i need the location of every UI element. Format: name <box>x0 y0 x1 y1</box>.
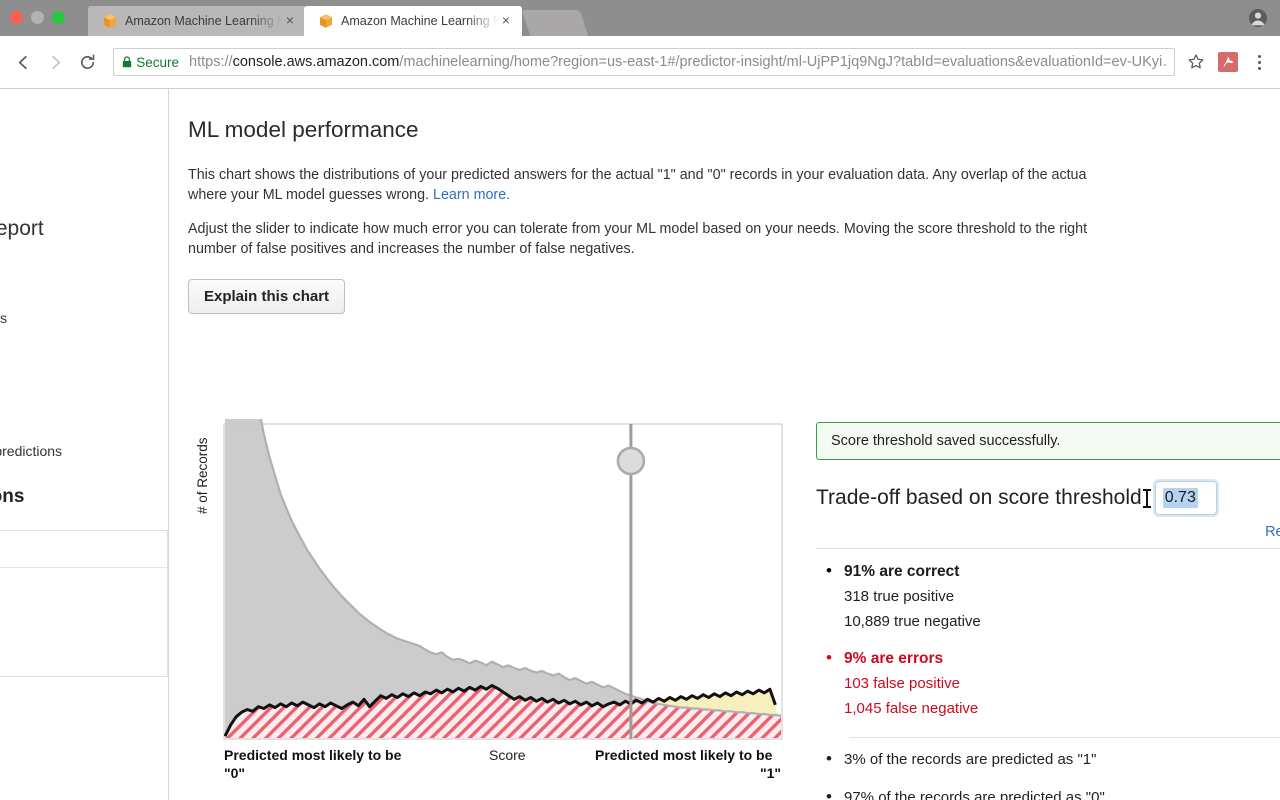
page-title: ML model performance <box>188 117 1280 143</box>
chart-xlabel-right-line2: "1" <box>595 764 781 782</box>
divider-bottom <box>849 737 1280 738</box>
score-threshold-value: 0.73 <box>1163 488 1198 508</box>
threshold-slider-handle[interactable] <box>618 448 644 474</box>
stat-true-negative: 10,889 true negative <box>844 609 1280 634</box>
aws-cube-icon <box>318 13 334 29</box>
secure-label: Secure <box>136 55 179 70</box>
title-bar: Amazon Machine Learning Ma × Amazon Mach… <box>0 0 1280 36</box>
accuracy-stats-list: 91% are correct 318 true positive 10,889… <box>816 563 1280 721</box>
sidebar-evaluation-box: …uation: ML mode… …mmary …rts (0) …lore … <box>0 530 168 677</box>
chart-xlabel-right: Predicted most likely to be "1" <box>595 746 781 782</box>
slider-paragraph-line1: Adjust the slider to indicate how much e… <box>188 219 1280 239</box>
performance-chart[interactable] <box>188 419 784 749</box>
account-circle-icon[interactable] <box>1248 8 1268 28</box>
minimize-window-button[interactable] <box>31 11 44 24</box>
sidebar-item-summary-sub[interactable]: …mmary <box>0 568 167 604</box>
intro-paragraph-line2: where your ML model guesses wrong. Learn… <box>188 185 1280 205</box>
tab-close-icon-2[interactable]: × <box>498 13 514 29</box>
chart-xlabel-left-line2: "0" <box>224 765 245 781</box>
success-alert: Score threshold saved successfully. <box>816 422 1280 460</box>
divider-top <box>816 548 1280 549</box>
tab-title-1: Amazon Machine Learning Ma <box>125 14 282 28</box>
secure-badge: Secure <box>122 55 179 70</box>
reload-icon[interactable] <box>74 48 102 76</box>
address-bar[interactable]: Secure https://console.aws.amazon.com/ma… <box>113 48 1174 76</box>
stat-false-negative: 1,045 false negative <box>844 696 1280 721</box>
stat-correct: 91% are correct 318 true positive 10,889… <box>816 563 1280 634</box>
sidebar-item-explore-performance[interactable]: …lore performance <box>0 640 167 676</box>
intro-paragraph-line1: This chart shows the distributions of yo… <box>188 165 1280 185</box>
predicted-as-1: 3% of the records are predicted as "1" <box>816 751 1280 768</box>
chart-xlabel-center: Score <box>489 746 526 764</box>
maximize-window-button[interactable] <box>52 11 65 24</box>
stat-correct-headline: 91% are correct <box>844 563 1280 581</box>
browser-window: Amazon Machine Learning Ma × Amazon Mach… <box>0 0 1280 800</box>
url-host: console.aws.amazon.com <box>233 54 400 70</box>
chart-xlabel-left: Predicted most likely to be "0" <box>224 746 424 782</box>
aws-cube-icon <box>102 13 118 29</box>
url-text: https://console.aws.amazon.com/machinele… <box>189 54 1168 70</box>
browser-menu-icon[interactable] <box>1248 50 1270 74</box>
sidebar-title: …del report <box>0 217 44 241</box>
browser-toolbar: Secure https://console.aws.amazon.com/ma… <box>0 36 1280 89</box>
score-threshold-input[interactable]: 0.73 <box>1155 481 1217 515</box>
sidebar-item-alerts[interactable]: …rts (0) <box>0 604 167 640</box>
chart-xlabel-right-line1: Predicted most likely to be <box>595 747 772 763</box>
pdf-extension-icon[interactable] <box>1218 52 1238 72</box>
chart-xlabel-left-line1: Predicted most likely to be <box>224 747 401 763</box>
tab-title-2: Amazon Machine Learning Ma <box>341 14 498 28</box>
tradeoff-header-row: Trade-off based on score threshold 0.73 <box>816 481 1280 515</box>
lock-icon <box>122 56 132 68</box>
sidebar-item-settings[interactable]: …s <box>0 310 7 326</box>
bookmark-star-icon[interactable] <box>1185 50 1209 74</box>
page-content: …del report …ry …s …ing …time prediction… <box>0 89 1280 800</box>
slider-paragraph-line2: number of false positives and increases … <box>188 239 1280 259</box>
learn-more-link[interactable]: Learn more. <box>433 187 510 203</box>
sidebar-item-realtime-predictions[interactable]: …time predictions <box>0 443 62 459</box>
stat-true-positive: 318 true positive <box>844 584 1280 609</box>
intro-paragraph-line2-text: where your ML model guesses wrong. <box>188 187 429 203</box>
browser-tab-2[interactable]: Amazon Machine Learning Ma × <box>304 6 522 36</box>
close-window-button[interactable] <box>10 11 23 24</box>
url-scheme: https:// <box>189 54 233 70</box>
chart-svg[interactable] <box>188 419 784 744</box>
tab-close-icon-1[interactable]: × <box>282 13 298 29</box>
back-icon[interactable] <box>10 48 38 76</box>
new-tab-button[interactable] <box>522 10 588 36</box>
stat-false-positive: 103 false positive <box>844 671 1280 696</box>
text-cursor-icon <box>1146 489 1148 508</box>
predicted-as-0: 97% of the records are predicted as "0" <box>816 789 1280 800</box>
sidebar-item-current-evaluation[interactable]: …uation: ML mode… <box>0 531 167 568</box>
url-path: /machinelearning/home?region=us-east-1#/… <box>399 54 1167 70</box>
tab-strip: Amazon Machine Learning Ma × Amazon Mach… <box>88 0 584 36</box>
sidebar: …del report …ry …s …ing …time prediction… <box>0 89 169 800</box>
explain-this-chart-button[interactable]: Explain this chart <box>188 279 345 314</box>
tradeoff-panel: Score threshold saved successfully. Trad… <box>816 422 1280 800</box>
stat-errors: 9% are errors 103 false positive 1,045 f… <box>816 650 1280 721</box>
forward-icon <box>42 48 70 76</box>
window-traffic-lights <box>10 11 65 24</box>
tradeoff-label: Trade-off based on score threshold <box>816 486 1142 510</box>
reset-score-row: Reset sc… <box>816 524 1280 540</box>
browser-tab-1[interactable]: Amazon Machine Learning Ma × <box>88 6 306 36</box>
sidebar-heading-evaluations: …tions <box>0 486 24 508</box>
stat-errors-headline: 9% are errors <box>844 650 1280 668</box>
prediction-distribution-list: 3% of the records are predicted as "1" 9… <box>816 751 1280 800</box>
reset-score-threshold-link[interactable]: Reset sc… <box>1265 524 1280 540</box>
